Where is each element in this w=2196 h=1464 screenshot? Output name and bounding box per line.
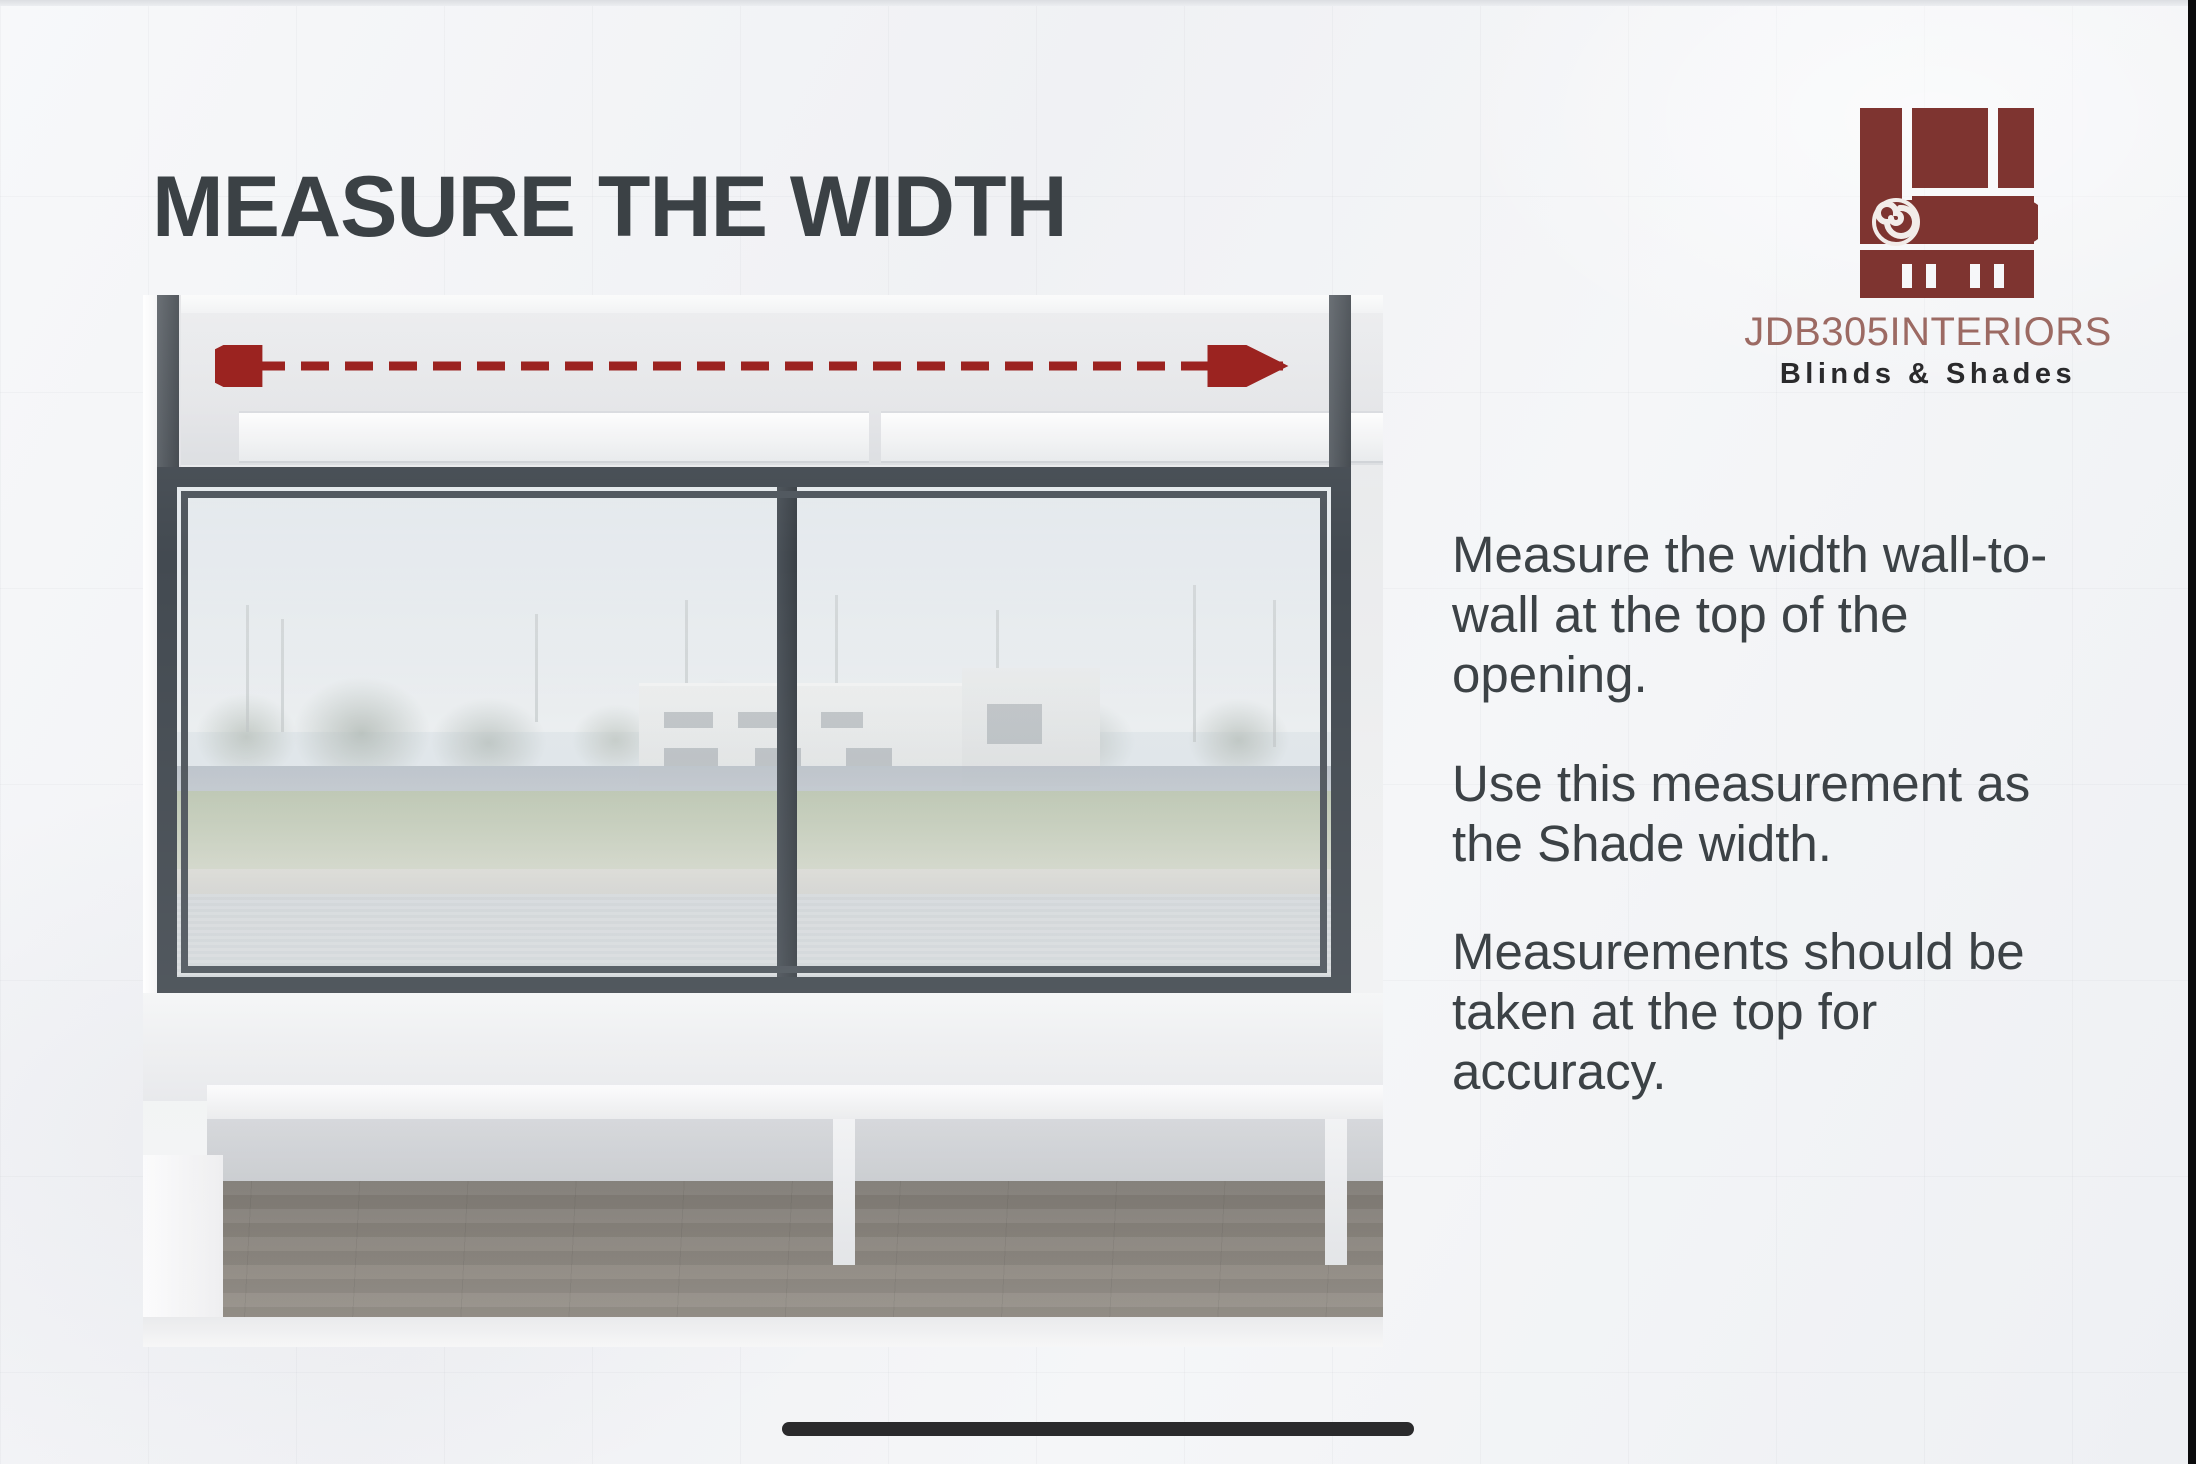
bench-leg — [833, 1119, 855, 1265]
frame-post-right — [1329, 295, 1351, 480]
bench-leg — [1325, 1119, 1347, 1265]
brand-name: JDB305INTERIORS — [1718, 310, 2138, 355]
instruction-paragraph-3: Measurements should be taken at the top … — [1452, 922, 2102, 1103]
instruction-paragraph-1: Measure the width wall-to-wall at the to… — [1452, 525, 2102, 706]
window-blind-logo-icon — [1856, 100, 2038, 300]
floor-edge-bottom — [143, 1317, 1383, 1347]
page-title: MEASURE THE WIDTH — [152, 158, 1067, 257]
brand-tagline: Blinds & Shades — [1718, 358, 2138, 391]
shade-valance-left — [239, 411, 869, 463]
home-indicator[interactable] — [782, 1422, 1414, 1436]
window-measurement-photo — [143, 295, 1383, 1347]
shade-valance-right — [881, 411, 1383, 463]
width-measurement-arrow — [215, 345, 1325, 387]
bench-seat — [207, 1085, 1383, 1119]
window-opening — [157, 467, 1351, 997]
right-bezel — [2188, 0, 2196, 1464]
window-mullion — [777, 487, 797, 977]
glass-reflection — [177, 487, 1331, 977]
brand-logo: JDB305INTERIORS Blinds & Shades — [1718, 100, 2138, 390]
blind-pocket — [181, 313, 1383, 465]
top-bezel — [0, 0, 2196, 6]
slide-screen: MEASURE THE WIDTH — [0, 0, 2196, 1464]
window-glass — [177, 487, 1331, 977]
instruction-paragraph-2: Use this measurement as the Shade width. — [1452, 754, 2102, 874]
frame-post-left — [157, 295, 179, 480]
instruction-copy: Measure the width wall-to-wall at the to… — [1452, 525, 2102, 1102]
bench-shadow — [207, 1119, 1383, 1181]
